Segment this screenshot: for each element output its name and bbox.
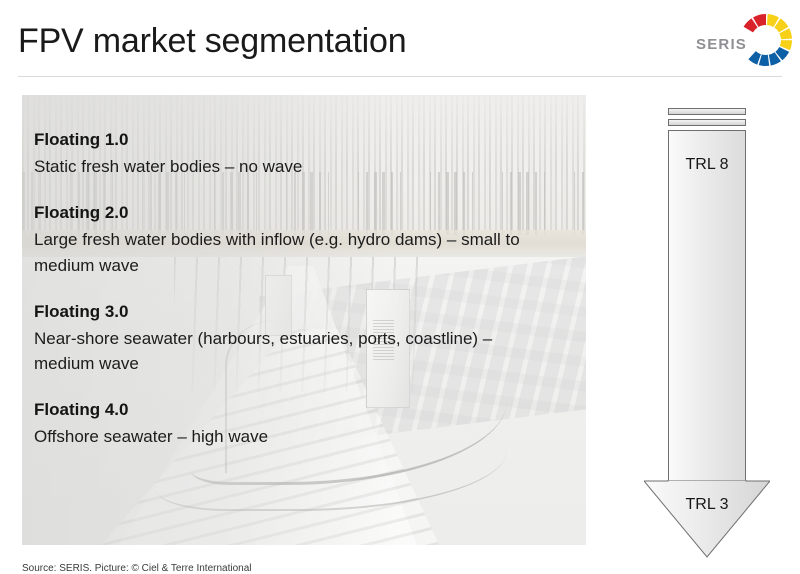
trl-arrow-shaft [668,130,746,482]
segment-item: Floating 2.0 Large fresh water bodies wi… [34,201,574,277]
segment-description: Near-shore seawater (harbours, estuaries… [34,326,554,376]
trl-arrow: TRL 8 TRL 3 [644,108,774,560]
trl-top-label: TRL 8 [668,156,746,174]
segment-title: Floating 3.0 [34,300,574,324]
segment-title: Floating 2.0 [34,201,574,225]
seris-sunburst-icon [736,10,796,70]
segment-title: Floating 1.0 [34,128,574,152]
segment-item: Floating 3.0 Near-shore seawater (harbou… [34,300,574,376]
trl-bottom-label: TRL 3 [644,496,770,514]
page-title: FPV market segmentation [18,22,406,61]
trl-arrow-cap-second [668,119,746,126]
segment-title: Floating 4.0 [34,398,574,422]
trl-arrow-cap-top [668,108,746,115]
slide: FPV market segmentation SERIS [0,0,800,573]
source-footer: Source: SERIS. Picture: © Ciel & Terre I… [22,563,778,574]
trl-arrow-head-icon [644,480,770,558]
segment-description: Offshore seawater – high wave [34,424,554,449]
segment-item: Floating 4.0 Offshore seawater – high wa… [34,398,574,449]
segment-description: Large fresh water bodies with inflow (e.… [34,227,554,277]
title-divider [18,76,782,77]
segment-item: Floating 1.0 Static fresh water bodies –… [34,128,574,179]
segment-list: Floating 1.0 Static fresh water bodies –… [34,128,574,449]
segment-description: Static fresh water bodies – no wave [34,154,554,179]
seris-logo: SERIS [696,8,792,74]
